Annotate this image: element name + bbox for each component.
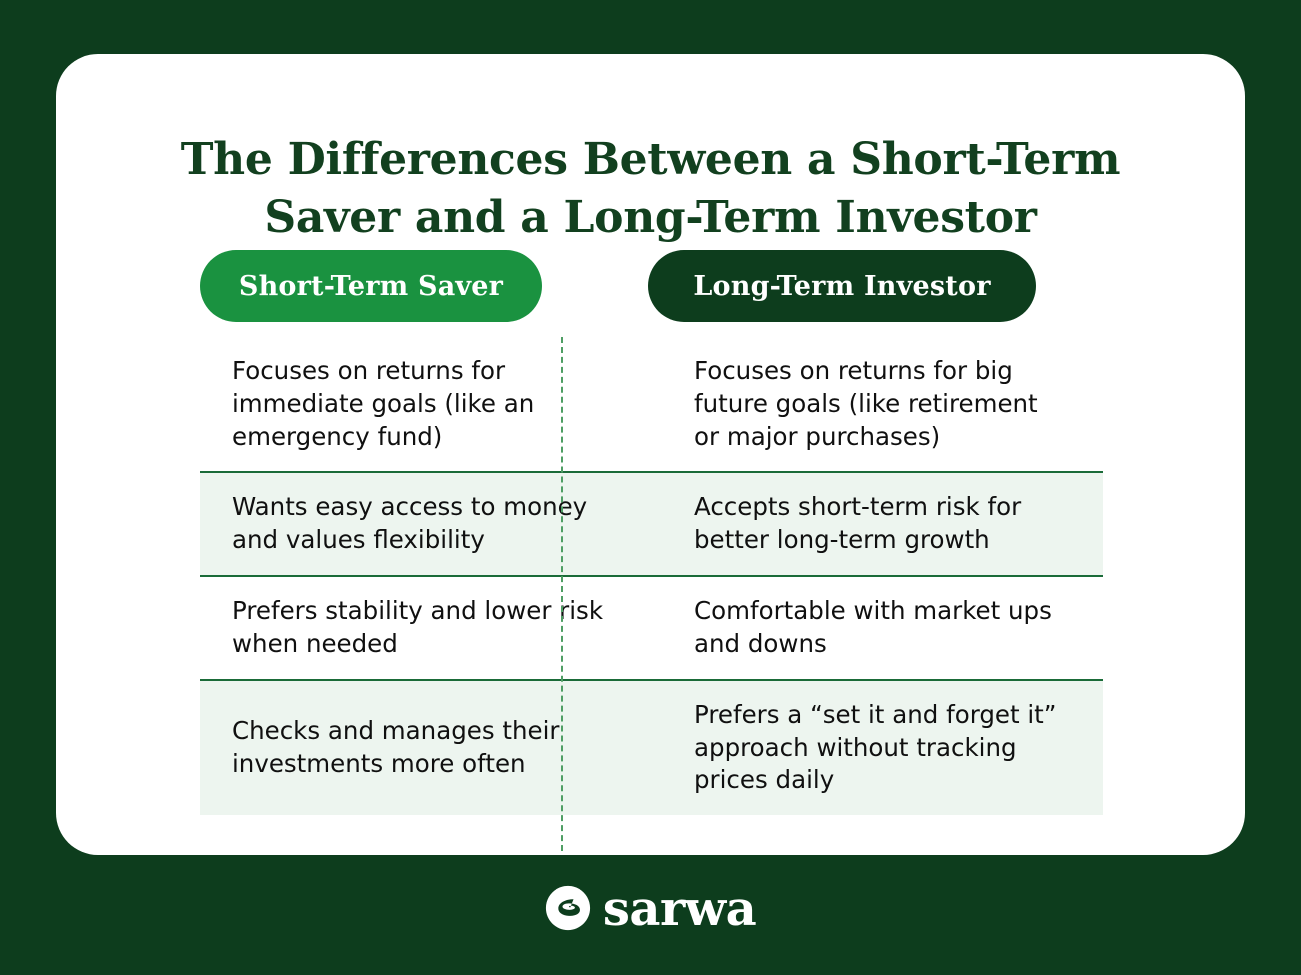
infographic-canvas: The Differences Between a Short-Term Sav… — [0, 0, 1301, 975]
column-header-short-term-saver: Short-Term Saver — [200, 250, 542, 322]
table-cell-investor: Comfortable with market ups and downs — [650, 577, 1103, 679]
table-row: Prefers stability and lower risk when ne… — [200, 577, 1103, 681]
column-header-label: Long-Term Investor — [693, 271, 990, 302]
content-card: The Differences Between a Short-Term Sav… — [56, 54, 1245, 855]
column-header-long-term-investor: Long-Term Investor — [648, 250, 1036, 322]
table-cell-investor: Prefers a “set it and forget it” approac… — [650, 681, 1103, 815]
table-cell-saver: Checks and manages their investments mor… — [200, 681, 650, 815]
brand-wordmark: sarwa — [603, 885, 756, 933]
sarwa-circle-mark-icon — [545, 885, 591, 931]
table-row: Wants easy access to money and values fl… — [200, 471, 1103, 577]
page-title: The Differences Between a Short-Term Sav… — [116, 131, 1185, 245]
table-row: Checks and manages their investments mor… — [200, 681, 1103, 815]
table-cell-investor: Focuses on returns for big future goals … — [650, 337, 1103, 471]
comparison-table: Focuses on returns for immediate goals (… — [200, 337, 1103, 815]
footer-logo: sarwa — [0, 873, 1301, 943]
column-headers: Short-Term Saver Long-Term Investor — [200, 250, 1100, 322]
table-row: Focuses on returns for immediate goals (… — [200, 337, 1103, 471]
column-divider — [561, 337, 563, 855]
column-header-label: Short-Term Saver — [239, 271, 503, 302]
table-cell-saver: Focuses on returns for immediate goals (… — [200, 337, 650, 471]
table-cell-saver: Wants easy access to money and values fl… — [200, 473, 650, 575]
table-cell-investor: Accepts short-term risk for better long-… — [650, 473, 1103, 575]
table-cell-saver: Prefers stability and lower risk when ne… — [200, 577, 650, 679]
